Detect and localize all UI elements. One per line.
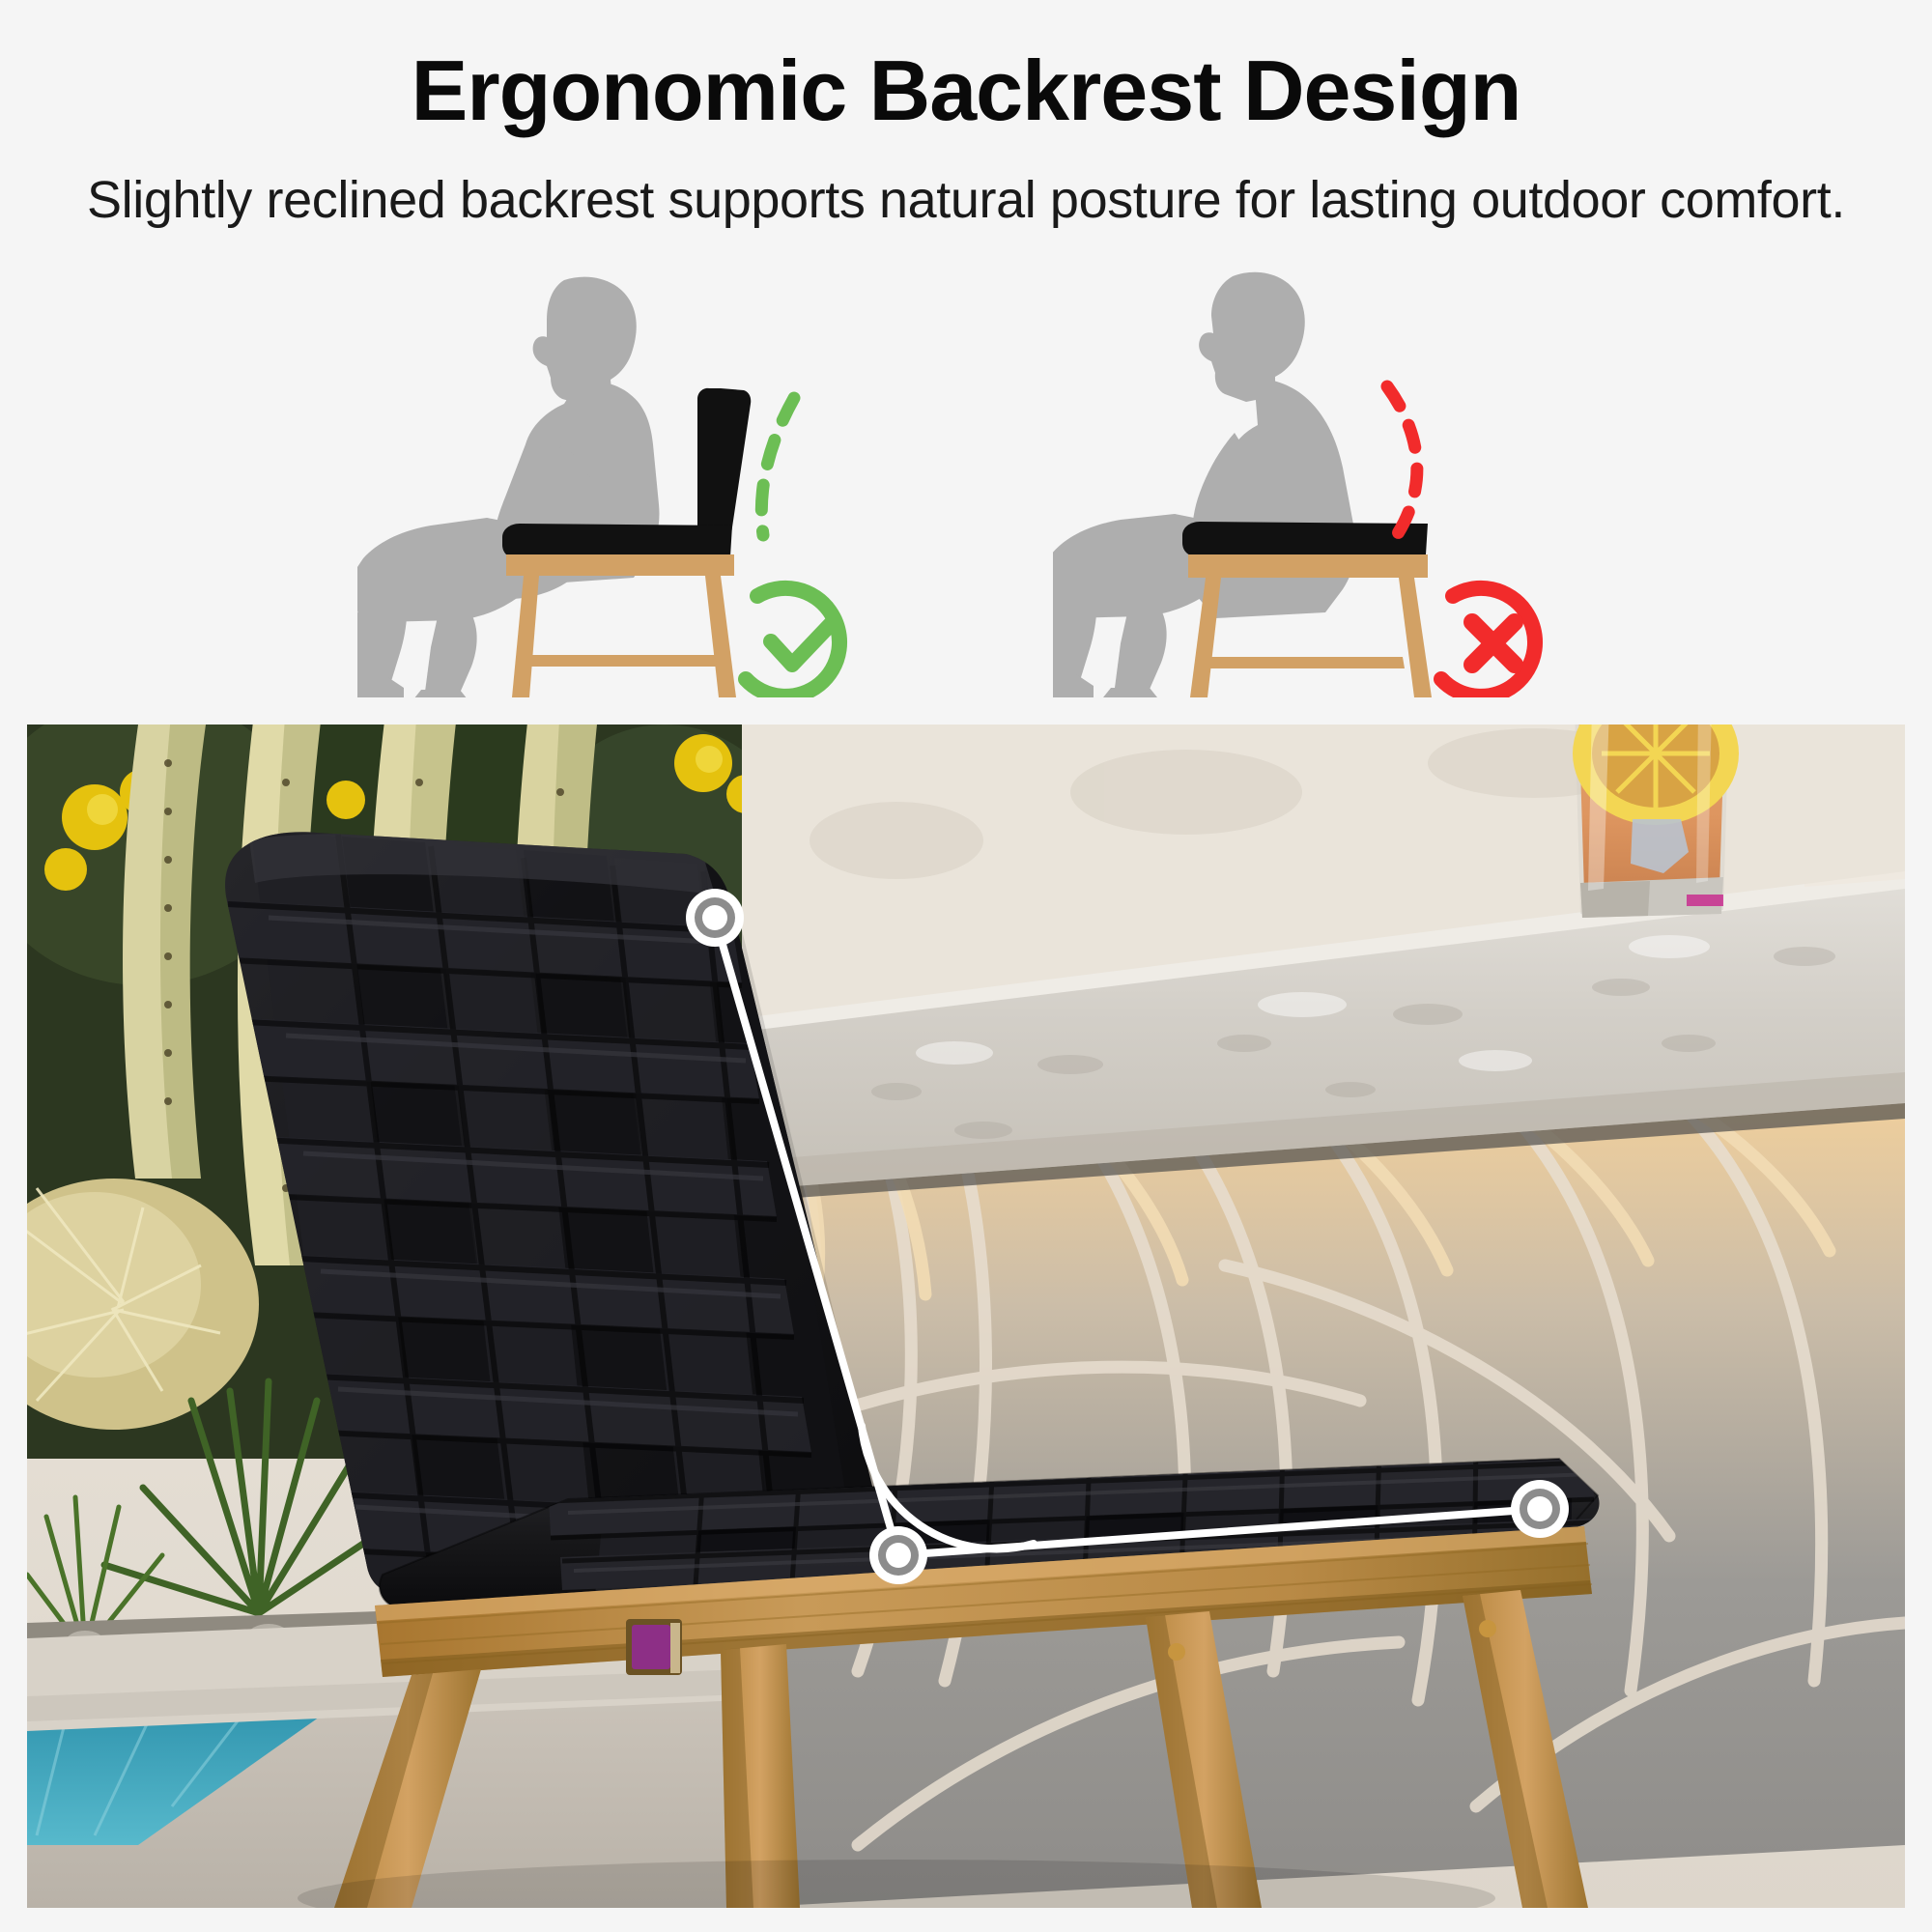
good-chair-apron bbox=[506, 554, 734, 576]
posture-comparison bbox=[0, 263, 1932, 697]
page-title: Ergonomic Backrest Design bbox=[0, 46, 1932, 135]
bad-chair-stretcher bbox=[1196, 657, 1405, 668]
check-circle-icon bbox=[746, 588, 839, 696]
bad-chair-apron bbox=[1188, 554, 1428, 578]
bad-chair-rear-leg bbox=[1399, 578, 1432, 697]
header-section: Ergonomic Backrest Design Slightly recli… bbox=[0, 0, 1932, 724]
correct-posture-illustration bbox=[357, 263, 956, 697]
photo-scene bbox=[27, 724, 1905, 1908]
good-person-silhouette bbox=[357, 277, 660, 697]
bar-counter bbox=[742, 867, 1905, 1908]
good-chair-seat bbox=[502, 524, 732, 558]
bad-chair-seat bbox=[1182, 522, 1428, 556]
incorrect-posture-illustration bbox=[1053, 263, 1652, 697]
drink-glass bbox=[1573, 724, 1739, 918]
good-chair-rear-leg bbox=[705, 576, 736, 697]
good-chair-stretcher bbox=[516, 655, 717, 667]
bad-spine-guide bbox=[1387, 386, 1417, 541]
product-photo bbox=[27, 724, 1905, 1908]
brand-badge bbox=[626, 1619, 682, 1675]
page-subtitle: Slightly reclined backrest supports natu… bbox=[0, 170, 1932, 230]
x-circle-icon bbox=[1441, 588, 1535, 696]
good-spine-guide bbox=[761, 398, 794, 535]
infographic-page: Ergonomic Backrest Design Slightly recli… bbox=[0, 0, 1932, 1932]
